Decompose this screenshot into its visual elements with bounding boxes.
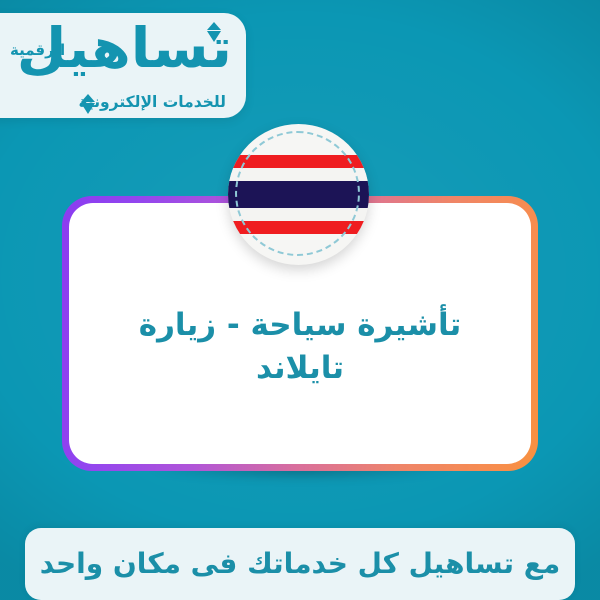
flag-stripe-blue [228, 181, 369, 208]
slogan-text: مع تساهيل كل خدماتك فى مكان واحد [40, 547, 560, 580]
service-title-line-2: تايلاند [256, 350, 344, 386]
flag-stripe-white-top [228, 168, 369, 181]
flag-stripe-red-top [228, 155, 369, 168]
diamond-icon [81, 94, 96, 116]
country-flag-medallion [228, 124, 369, 265]
diamond-icon [207, 22, 222, 44]
flag-stripe-white-bottom [228, 208, 369, 221]
poster-canvas: الرقمية تساهيل للخدمات الإلكترونية تأشي [0, 0, 600, 600]
thailand-flag-icon [228, 155, 369, 234]
slogan-banner: مع تساهيل كل خدماتك فى مكان واحد [25, 528, 575, 600]
brand-logo-badge[interactable]: الرقمية تساهيل للخدمات الإلكترونية [0, 13, 246, 118]
service-title-line-1: تأشيرة سياحة - زيارة [139, 307, 461, 343]
brand-logo-inner: الرقمية تساهيل للخدمات الإلكترونية [0, 13, 246, 118]
logo-tagline: للخدمات الإلكترونية [79, 93, 227, 111]
service-card-title: تأشيرة سياحة - زيارة تايلاند [139, 304, 461, 390]
logo-wordmark: تساهيل [17, 21, 232, 76]
flag-stripe-red-bottom [228, 221, 369, 234]
